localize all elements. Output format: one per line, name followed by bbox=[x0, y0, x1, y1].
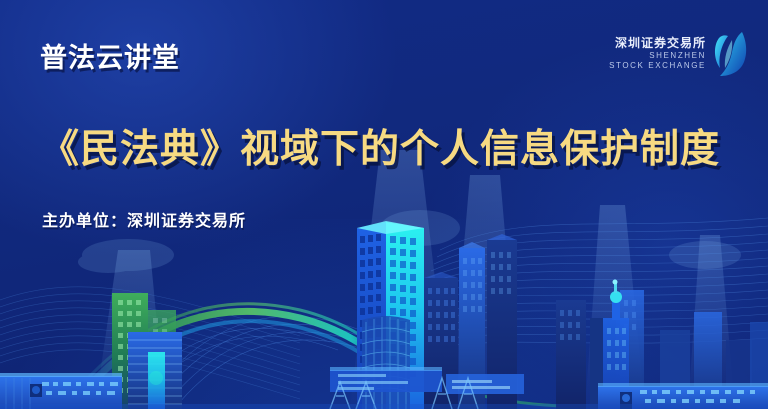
building-mesh-cylinder bbox=[362, 316, 410, 409]
green-ribbon-swoosh bbox=[62, 304, 406, 409]
building-left-green bbox=[112, 293, 148, 409]
wave-mesh-center bbox=[120, 316, 378, 409]
szse-logo: 深圳证券交易所 SHENZHEN STOCK EXCHANGE bbox=[609, 30, 750, 78]
background-glow-bottom bbox=[0, 219, 768, 409]
poster-headline: 《民法典》视域下的个人信息保护制度 bbox=[40, 118, 720, 174]
building-mid-dark bbox=[424, 272, 458, 409]
szse-logo-english-line2: STOCK EXCHANGE bbox=[609, 62, 706, 70]
ground-glow bbox=[0, 404, 768, 409]
bridge-truss bbox=[330, 378, 478, 409]
background-glow-right bbox=[428, 40, 768, 409]
podium-slabs bbox=[330, 367, 524, 394]
szse-logo-mark bbox=[712, 30, 750, 78]
szse-logo-text: 深圳证券交易所 SHENZHEN STOCK EXCHANGE bbox=[609, 37, 706, 70]
building-cyan-slab bbox=[148, 352, 165, 409]
building-left-green-back bbox=[148, 310, 176, 409]
poster-organizer: 主办单位：深圳证券交易所 bbox=[42, 207, 246, 231]
poster-kicker: 普法云讲堂 bbox=[40, 36, 180, 75]
szse-logo-english-line1: SHENZHEN bbox=[609, 52, 706, 60]
wave-mesh-right bbox=[395, 218, 768, 355]
lowrise-block-left bbox=[0, 373, 122, 409]
promo-poster: 普法云讲堂 深圳证券交易所 SHENZHEN STOCK EXCHANGE bbox=[0, 0, 768, 409]
ribbon-tail-right bbox=[410, 372, 560, 406]
building-twin-towers bbox=[459, 234, 517, 409]
light-beams bbox=[95, 150, 735, 409]
hero-tower bbox=[357, 221, 424, 409]
building-left-striped bbox=[128, 332, 182, 409]
lowrise-block-right bbox=[598, 383, 768, 409]
szse-logo-chinese: 深圳证券交易所 bbox=[609, 37, 706, 50]
building-spire-tower bbox=[603, 280, 629, 409]
building-far-right bbox=[660, 312, 768, 409]
wave-mesh-left bbox=[0, 287, 300, 399]
building-right-slabs bbox=[556, 290, 644, 409]
